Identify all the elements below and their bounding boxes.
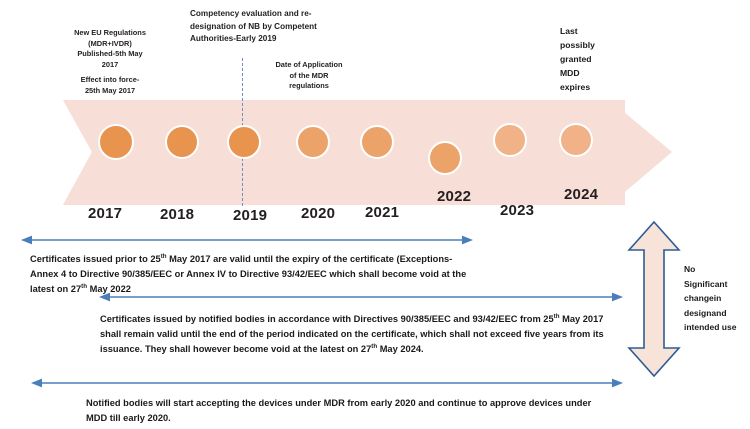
year-label-2023: 2023 [500, 202, 534, 219]
para-notified-bodies-certificates: Certificates issued by notified bodies i… [100, 312, 614, 357]
year-label-2019: 2019 [233, 207, 267, 224]
timeline-node-2017 [98, 124, 134, 160]
callout-line: Last possibly granted MDD expires [560, 25, 608, 95]
vertical-arrow-text-line: No [684, 262, 742, 277]
vertical-arrow-text-line: intended use [684, 320, 742, 335]
arrow-notified-bodies-accepting [24, 376, 630, 390]
arrow-head-right [462, 236, 473, 245]
double-arrow-shape [629, 222, 679, 376]
year-label-2022: 2022 [437, 188, 471, 205]
arrow-head-left [21, 236, 32, 245]
arrow-certificates-prior [14, 233, 480, 247]
callout-date-of-application: Date of Application of the MDR regulatio… [272, 60, 346, 92]
year-label-2017: 2017 [88, 205, 122, 222]
vertical-arrow-word: in [714, 293, 722, 303]
vertical-arrow-text-line: designand [684, 306, 742, 321]
callout-line: Date of Application of the MDR regulatio… [272, 60, 346, 92]
callout-line: Effect into force-25th May 2017 [74, 75, 146, 96]
callout-line: Competency evaluation and re-designation… [190, 8, 320, 46]
timeline-node-2024 [559, 123, 593, 157]
vertical-arrow-word: and [711, 308, 726, 318]
timeline-node-2018 [165, 125, 199, 159]
year-label-2024: 2024 [564, 186, 598, 203]
timeline-diagram: 20172018201920202021202220232024 New EU … [0, 0, 750, 429]
year-label-2018: 2018 [160, 206, 194, 223]
arrow-head-right [612, 293, 623, 302]
timeline-node-2021 [360, 125, 394, 159]
banner-arrow-body [63, 100, 625, 205]
para-notified-bodies-accepting: Notified bodies will start accepting the… [86, 396, 614, 426]
year-label-2021: 2021 [365, 204, 399, 221]
callout-new-eu-regulations: New EU Regulations (MDR+IVDR) Published-… [74, 28, 146, 96]
timeline-node-2019 [227, 125, 261, 159]
vertical-arrow-word: change [684, 293, 714, 303]
vertical-arrow-word: design [684, 308, 711, 318]
callout-line: New EU Regulations (MDR+IVDR) Published-… [74, 28, 146, 70]
callout-competency-evaluation: Competency evaluation and re-designation… [190, 8, 320, 46]
timeline-node-2022 [428, 141, 462, 175]
timeline-node-2023 [493, 123, 527, 157]
callout-last-mdd-expires: Last possibly granted MDD expires [560, 25, 608, 95]
no-significant-change-double-arrow [626, 220, 682, 378]
vertical-arrow-text-line: changein [684, 291, 742, 306]
year-label-2020: 2020 [301, 205, 335, 222]
arrow-head-left [31, 379, 42, 388]
timeline-node-2020 [296, 125, 330, 159]
no-significant-change-label: NoSignificantchangeindesignandintended u… [684, 262, 742, 335]
para-certificates-prior: Certificates issued prior to 25th May 20… [30, 252, 478, 297]
vertical-arrow-text-line: Significant [684, 277, 742, 292]
arrow-head-right [612, 379, 623, 388]
